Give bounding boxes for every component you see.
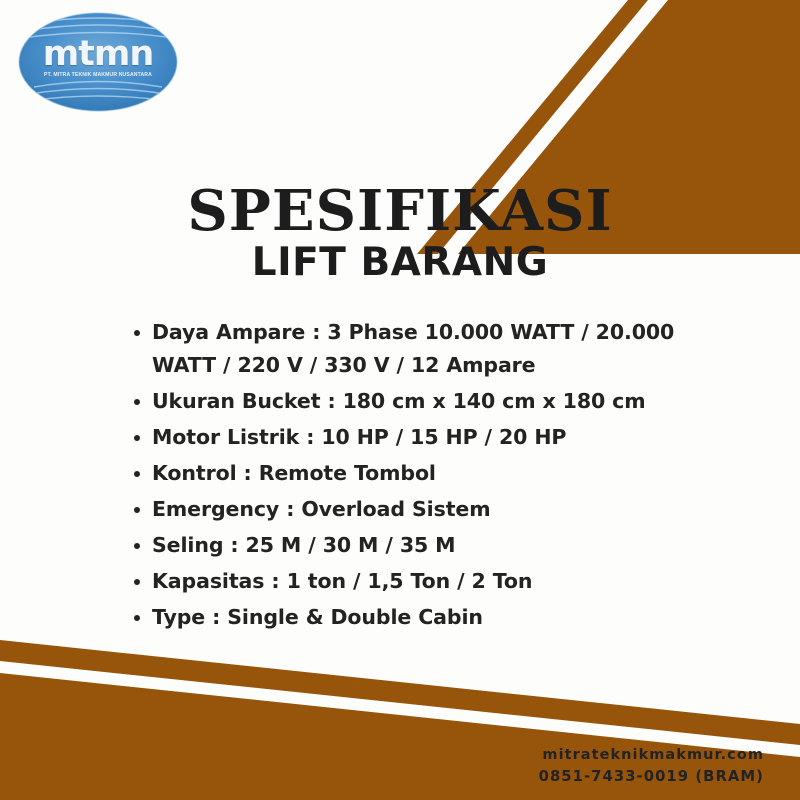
- logo-wordmark: mtmn: [18, 37, 178, 72]
- list-item: Emergency : Overload Sistem: [128, 493, 728, 526]
- list-item: Kontrol : Remote Tombol: [128, 457, 728, 490]
- list-item: Seling : 25 M / 30 M / 35 M: [128, 529, 728, 562]
- footer-contact: mitrateknikmakmur.com 0851-7433-0019 (BR…: [539, 745, 764, 787]
- bottom-left-stripe: [0, 640, 800, 745]
- phone-text: 0851-7433-0019 (BRAM): [539, 766, 764, 787]
- list-item: Kapasitas : 1 ton / 1,5 Ton / 2 Ton: [128, 565, 728, 598]
- website-text: mitrateknikmakmur.com: [539, 745, 764, 766]
- list-item: Daya Ampare : 3 Phase 10.000 WATT / 20.0…: [128, 316, 728, 382]
- list-item: Ukuran Bucket : 180 cm x 140 cm x 180 cm: [128, 385, 728, 418]
- company-logo: mtmn PT. MITRA TEKNIK MAKMUR NUSANTARA: [18, 8, 178, 116]
- poster-canvas: mtmn PT. MITRA TEKNIK MAKMUR NUSANTARA S…: [0, 0, 800, 800]
- list-item: Type : Single & Double Cabin: [128, 601, 728, 634]
- page-subtitle: LIFT BARANG: [0, 243, 800, 282]
- page-title: SPESIFIKASI: [0, 183, 800, 239]
- list-item: Motor Listrik : 10 HP / 15 HP / 20 HP: [128, 421, 728, 454]
- specification-list: Daya Ampare : 3 Phase 10.000 WATT / 20.0…: [128, 316, 728, 637]
- logo-tagline: PT. MITRA TEKNIK MAKMUR NUSANTARA: [18, 72, 178, 78]
